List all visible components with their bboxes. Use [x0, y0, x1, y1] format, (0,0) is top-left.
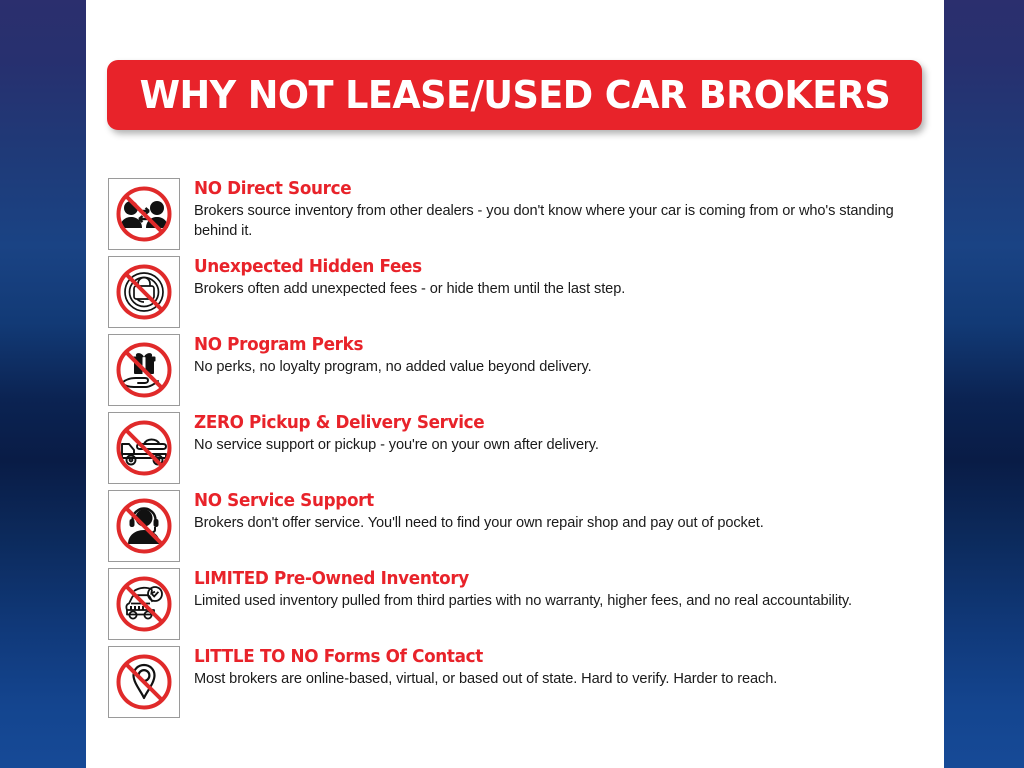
list-item-title: ZERO Pickup & Delivery Service	[194, 413, 908, 434]
list-item-title: NO Program Perks	[194, 335, 908, 356]
list-item-description: Limited used inventory pulled from third…	[194, 591, 934, 612]
list-item-text: NO Service Support Brokers don't offer s…	[180, 490, 938, 533]
header-banner: WHY NOT LEASE/USED CAR BROKERS	[107, 60, 922, 130]
list-item-description: Brokers often add unexpected fees - or h…	[194, 279, 934, 300]
list-item-text: NO Direct Source Brokers source inventor…	[180, 178, 938, 242]
list-item-title: Unexpected Hidden Fees	[194, 257, 908, 278]
list-item-description: Brokers source inventory from other deal…	[194, 201, 934, 242]
list-item-text: ZERO Pickup & Delivery Service No servic…	[180, 412, 938, 455]
list-item-title: NO Direct Source	[194, 179, 908, 200]
no-service-support-icon	[108, 490, 180, 562]
no-pickup-delivery-icon	[108, 412, 180, 484]
list-item: NO Service Support Brokers don't offer s…	[108, 490, 938, 562]
slide-panel: WHY NOT LEASE/USED CAR BROKERS	[86, 0, 944, 768]
list-item-description: Brokers don't offer service. You'll need…	[194, 513, 934, 534]
list-item-title: LITTLE TO NO Forms Of Contact	[194, 647, 908, 668]
list-item: LIMITED Pre-Owned Inventory Limited used…	[108, 568, 938, 640]
list-item-description: Most brokers are online-based, virtual, …	[194, 669, 934, 690]
list-item: Unexpected Hidden Fees Brokers often add…	[108, 256, 938, 328]
reasons-list: NO Direct Source Brokers source inventor…	[108, 178, 938, 724]
list-item: NO Direct Source Brokers source inventor…	[108, 178, 938, 250]
list-item-title: LIMITED Pre-Owned Inventory	[194, 569, 908, 590]
no-direct-source-icon	[108, 178, 180, 250]
list-item: NO Program Perks No perks, no loyalty pr…	[108, 334, 938, 406]
list-item: ZERO Pickup & Delivery Service No servic…	[108, 412, 938, 484]
list-item-title: NO Service Support	[194, 491, 908, 512]
page-title: WHY NOT LEASE/USED CAR BROKERS	[139, 76, 890, 114]
list-item-text: Unexpected Hidden Fees Brokers often add…	[180, 256, 938, 299]
list-item-text: LITTLE TO NO Forms Of Contact Most broke…	[180, 646, 938, 689]
no-preowned-inventory-icon	[108, 568, 180, 640]
no-program-perks-icon	[108, 334, 180, 406]
list-item-description: No service support or pickup - you're on…	[194, 435, 934, 456]
no-contact-forms-icon	[108, 646, 180, 718]
list-item-description: No perks, no loyalty program, no added v…	[194, 357, 934, 378]
list-item-text: NO Program Perks No perks, no loyalty pr…	[180, 334, 938, 377]
list-item: LITTLE TO NO Forms Of Contact Most broke…	[108, 646, 938, 718]
no-hidden-fees-icon	[108, 256, 180, 328]
list-item-text: LIMITED Pre-Owned Inventory Limited used…	[180, 568, 938, 611]
